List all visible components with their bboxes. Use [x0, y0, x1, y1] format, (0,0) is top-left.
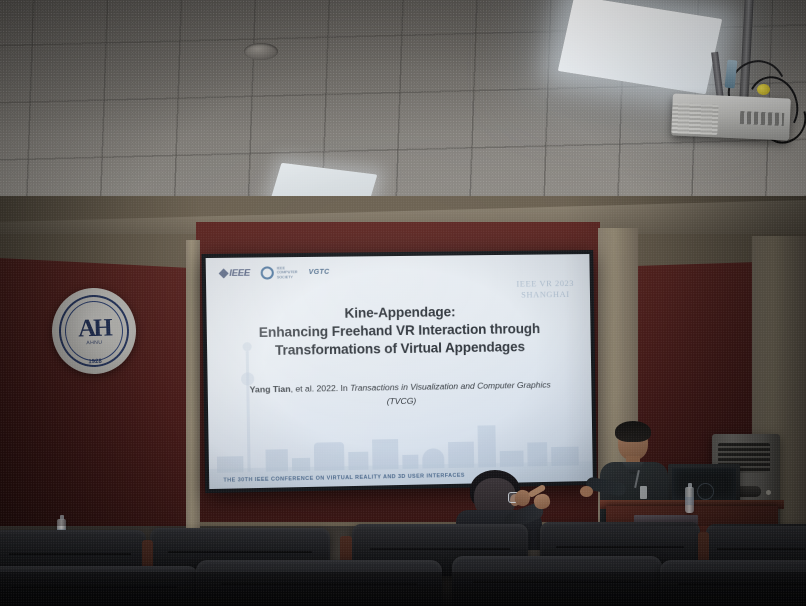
- ceiling-speaker-icon: [244, 43, 278, 60]
- conference-room-photo: AH AHNU 1928 IEEE IEEE COMPUTER SOCIET: [0, 0, 806, 606]
- projector-ports: [740, 111, 785, 126]
- foreground-shadow: [0, 572, 806, 606]
- seat-seam: [168, 551, 312, 553]
- projector-lens-icon: [671, 103, 718, 135]
- seat-seam: [9, 553, 131, 555]
- seat-seam: [717, 548, 805, 550]
- wall-shadow-overlay: [0, 196, 806, 526]
- projector-cable-tag: [757, 84, 770, 95]
- seat-seam: [556, 546, 684, 548]
- seat-seam: [370, 548, 511, 550]
